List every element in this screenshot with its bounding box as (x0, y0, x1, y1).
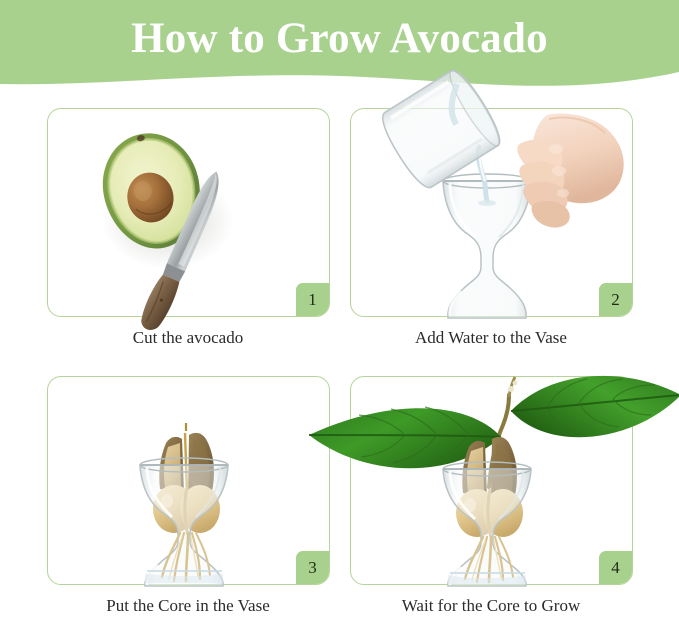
step-card-4[interactable]: 4 Wait for the Core to Grow (343, 370, 639, 636)
step-1-number-badge: 1 (296, 283, 329, 316)
step-2-illustration (351, 109, 632, 316)
avocado-seedling-with-leaves-in-vase-icon (351, 377, 634, 586)
hand-shape (517, 114, 623, 228)
step-card-1[interactable]: 1 Cut the avocado (40, 102, 336, 368)
leaf-right-4 (511, 376, 679, 437)
step-3-caption: Put the Core in the Vase (40, 594, 336, 618)
steps-grid: 1 Cut the avocado (0, 96, 679, 641)
step-2-number-badge: 2 (599, 283, 632, 316)
step-3-illustration (48, 377, 329, 584)
step-4-illustration (351, 377, 632, 584)
step-4-number-badge: 4 (599, 551, 632, 584)
step-4-caption: Wait for the Core to Grow (343, 594, 639, 618)
step-card-2[interactable]: 2 Add Water to the Vase (343, 102, 639, 368)
step-1-frame: 1 (47, 108, 330, 317)
header-banner: How to Grow Avocado (0, 0, 679, 96)
step-3-frame: 3 (47, 376, 330, 585)
sprouted-core-with-roots-in-vase-icon (48, 377, 331, 586)
step-2-frame: 2 (350, 108, 633, 317)
step-1-illustration (48, 109, 329, 316)
step-4-frame: 4 (350, 376, 633, 585)
step-2-caption: Add Water to the Vase (343, 326, 639, 350)
step-3-number-badge: 3 (296, 551, 329, 584)
step-card-3[interactable]: 3 Put the Core in the Vase (40, 370, 336, 636)
hand-pouring-water-into-vase-icon (351, 109, 634, 318)
step-1-caption: Cut the avocado (40, 326, 336, 350)
avocado-half-with-knife-icon (48, 109, 331, 318)
page-title: How to Grow Avocado (0, 11, 679, 67)
infographic-page: How to Grow Avocado (0, 0, 679, 641)
